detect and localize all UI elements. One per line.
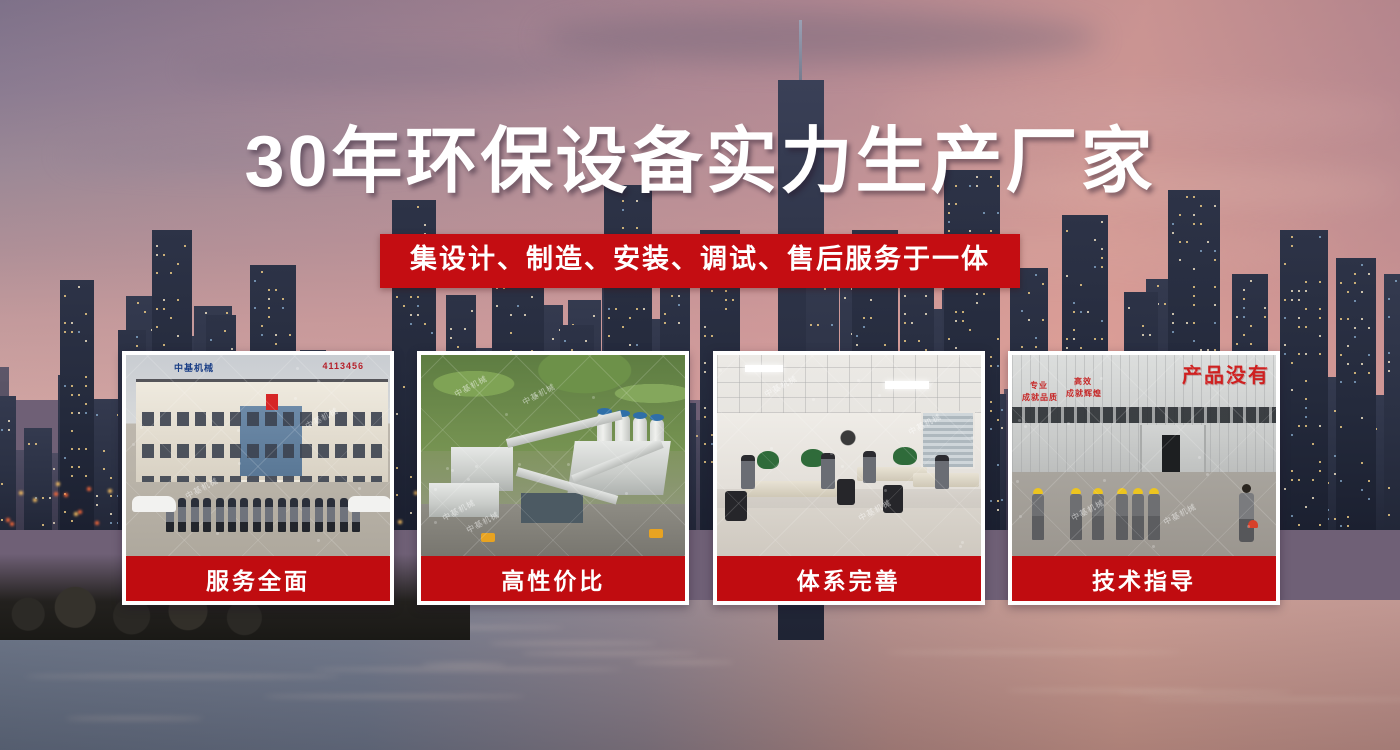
ceiling-grid [717, 355, 981, 413]
water-reflection [885, 651, 1182, 654]
worker [1032, 488, 1044, 540]
seated-person [741, 455, 755, 489]
card-caption: 体系完善 [717, 556, 981, 601]
potted-plant [757, 451, 779, 469]
office-chair [837, 479, 855, 505]
water-reflection [24, 675, 342, 678]
excavator [649, 529, 663, 538]
wall-decal [829, 421, 867, 449]
ceiling-light [745, 365, 783, 372]
factory-yard [1012, 472, 1276, 556]
skyline-building [1384, 274, 1400, 530]
street-light [56, 482, 60, 486]
plant-building [521, 493, 583, 523]
factory-doorway [1162, 435, 1180, 473]
window-row [142, 444, 382, 458]
excavator [481, 533, 495, 542]
water-reflection [1139, 698, 1400, 701]
staff-member [178, 498, 186, 532]
aerial-view-industrial-plant-image: 中基机械 中基机械 中基机械 中基机械 [421, 355, 685, 556]
office-floor [717, 508, 981, 556]
red-helmet-icon [1248, 520, 1258, 528]
building-phone-text: 4113456 [322, 361, 364, 371]
street-light [108, 489, 112, 493]
factory-window-strip [1012, 407, 1276, 423]
water-reflection [488, 642, 656, 645]
subtitle-banner: 集设计、制造、安装、调试、售后服务于一体 [380, 234, 1020, 288]
street-light [87, 487, 91, 491]
office-interior-with-staff-image: 中基机械 中基机械 中基机械 [717, 355, 981, 556]
staff-member [216, 498, 224, 532]
feature-card[interactable]: 中基机械 4113456 中基机械 中基机械 服务全面 [122, 351, 394, 605]
card-caption: 技术指导 [1012, 556, 1276, 601]
water-reflection [632, 661, 733, 664]
factory-slogan-right-sub: 成就辉煌 [1066, 389, 1102, 399]
street-light [95, 521, 99, 525]
page-title: 30年环保设备实力生产厂家 [0, 126, 1400, 198]
staff-member [302, 498, 310, 532]
street-light [10, 522, 14, 526]
worker [1116, 488, 1128, 530]
staff-member [228, 498, 236, 532]
worker [1132, 488, 1144, 528]
staff-member [278, 498, 286, 532]
card-caption: 服务全面 [126, 556, 390, 601]
window-row [142, 412, 382, 426]
parked-car [132, 496, 176, 512]
worker [1148, 488, 1160, 526]
supervisor [1239, 484, 1254, 542]
factory-slogan-right: 高效 [1074, 377, 1092, 387]
street-light [78, 510, 82, 514]
factory-slogan-left-sub: 成就品质 [1022, 393, 1058, 403]
staff-member [315, 498, 323, 532]
building-sign-text: 中基机械 [174, 361, 214, 374]
water-reflection [263, 695, 526, 698]
promotional-banner: 30年环保设备实力生产厂家 集设计、制造、安装、调试、售后服务于一体 中基机械 … [0, 0, 1400, 750]
water-reflection [65, 717, 205, 720]
staff-member [203, 498, 211, 532]
staff-member [340, 498, 348, 532]
factory-slogan-left: 专业 [1030, 381, 1048, 391]
feature-card-grid: 中基机械 4113456 中基机械 中基机械 服务全面 [122, 351, 1280, 605]
skyline-building [1280, 230, 1328, 530]
seated-person [863, 451, 876, 483]
card-caption: 高性价比 [421, 556, 685, 601]
parked-car [348, 496, 390, 512]
factory-workers-training-lineup-image: 产品没有 专业 成就品质 高效 成就辉煌 中基机械 中基机械 [1012, 355, 1276, 556]
office-chair [725, 491, 747, 521]
staff-member [240, 498, 248, 532]
staff-member [290, 498, 298, 532]
feature-card[interactable]: 中基机械 中基机械 中基机械 中基机械 高性价比 [417, 351, 689, 605]
water-reflection [521, 652, 700, 655]
feature-card[interactable]: 产品没有 专业 成就品质 高效 成就辉煌 中基机械 中基机械 [1008, 351, 1280, 605]
flag-icon [266, 394, 278, 410]
staff-member [191, 498, 199, 532]
water-reflection [421, 663, 506, 666]
skyline-building [0, 396, 16, 530]
skyline-building [24, 428, 52, 530]
staff-member [327, 498, 335, 532]
seated-person [935, 455, 949, 489]
office-building [136, 379, 388, 485]
water-reflection [1117, 691, 1294, 694]
seated-person [821, 453, 835, 489]
company-headquarters-building-with-staff-image: 中基机械 4113456 中基机械 中基机械 [126, 355, 390, 556]
potted-plant [893, 447, 917, 465]
ceiling-light [885, 381, 929, 389]
staff-member [265, 498, 273, 532]
staff-member [253, 498, 261, 532]
feature-card[interactable]: 中基机械 中基机械 中基机械 体系完善 [713, 351, 985, 605]
water-reflection [1005, 689, 1204, 692]
water-reflection [312, 668, 622, 671]
factory-banner-text: 产品没有 [1182, 359, 1270, 388]
skyline-building [1336, 258, 1376, 530]
